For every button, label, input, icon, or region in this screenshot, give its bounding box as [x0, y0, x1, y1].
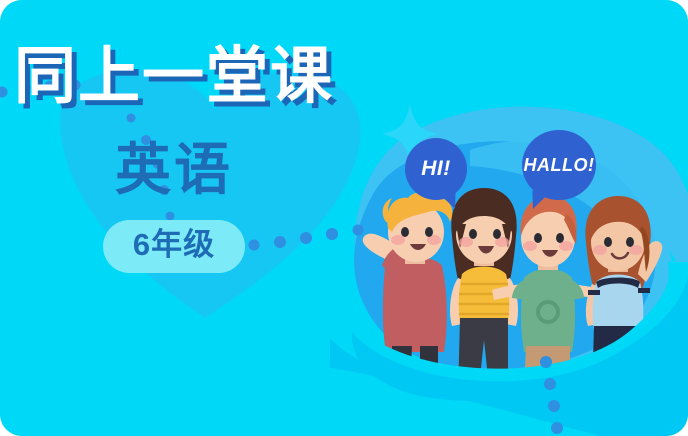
title-block: 同上一堂课 英语 6年级: [0, 46, 348, 273]
grade-badge: 6年级: [103, 220, 245, 273]
poster-card: 同上一堂课 英语 6年级 HI! HALLO!: [0, 0, 688, 436]
subject-title: 英语: [0, 142, 348, 198]
speech-bubble-hallo: HALLO!: [522, 130, 596, 200]
speech-bubble-hallo-text: HALLO!: [524, 155, 595, 176]
speech-bubble-hi-text: HI!: [421, 157, 451, 181]
page-title: 同上一堂课: [0, 46, 348, 108]
speech-bubble-hi: HI!: [405, 138, 467, 200]
